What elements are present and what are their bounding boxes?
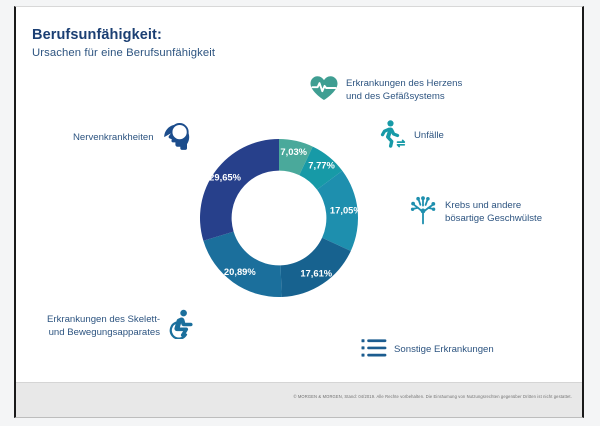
legend-item-nerven: Nervenkrankheiten <box>73 119 195 158</box>
donut-slice-label: 29,65% <box>209 171 241 182</box>
donut-slice <box>200 139 279 241</box>
legend-label-skelett: Erkrankungen des Skelett- und Bewegungsa… <box>47 314 160 339</box>
footer-copyright: © MORGEN & MORGEN, Stand: 04/2019. Alle … <box>293 394 572 399</box>
donut-chart: 7,03%7,77%17,05%17,61%20,89%29,65% <box>196 135 362 301</box>
donut-slice <box>203 232 281 297</box>
infographic-card: Berufsunfähigkeit: Ursachen für eine Ber… <box>14 6 584 418</box>
page-title: Berufsunfähigkeit: <box>32 27 162 43</box>
wheelchair-icon <box>167 309 195 344</box>
donut-chart-svg: 7,03%7,77%17,05%17,61%20,89%29,65% <box>196 135 362 301</box>
donut-slice-label: 7,03% <box>280 146 307 157</box>
legend-label-heart: Erkrankungen des Herzens und des Gefäßsy… <box>346 78 462 103</box>
legend-label-unfall: Unfälle <box>414 130 444 142</box>
donut-slice-label: 20,89% <box>224 266 256 277</box>
legend-item-unfall: Unfälle <box>377 119 444 154</box>
legend-item-heart: Erkrankungen des Herzens und des Gefäßsy… <box>309 75 462 106</box>
legend-label-nerven: Nervenkrankheiten <box>73 132 154 144</box>
page-subtitle: Ursachen für eine Berufsunfähigkeit <box>32 47 215 59</box>
legend-item-skelett: Erkrankungen des Skelett- und Bewegungsa… <box>47 309 195 344</box>
legend-item-krebs: Krebs und andere bösartige Geschwülste <box>408 195 542 230</box>
legend-label-sonstige: Sonstige Erkrankungen <box>394 344 494 356</box>
donut-slice-label: 17,05% <box>330 204 362 215</box>
list-icon <box>361 337 387 364</box>
heart-pulse-icon <box>309 75 339 106</box>
legend-label-krebs: Krebs und andere bösartige Geschwülste <box>445 200 542 225</box>
donut-slice-label: 17,61% <box>300 267 332 278</box>
head-brain-icon <box>161 119 195 158</box>
legend-item-sonstige: Sonstige Erkrankungen <box>361 337 494 364</box>
infographic-page: Berufsunfähigkeit: Ursachen für eine Ber… <box>0 0 600 426</box>
footer-band: © MORGEN & MORGEN, Stand: 04/2019. Alle … <box>16 382 582 417</box>
infographic-sheet: Berufsunfähigkeit: Ursachen für eine Ber… <box>16 7 582 417</box>
donut-slice-label: 7,77% <box>308 159 335 170</box>
walking-person-accident-icon <box>377 119 407 154</box>
cancer-cell-icon <box>408 195 438 230</box>
